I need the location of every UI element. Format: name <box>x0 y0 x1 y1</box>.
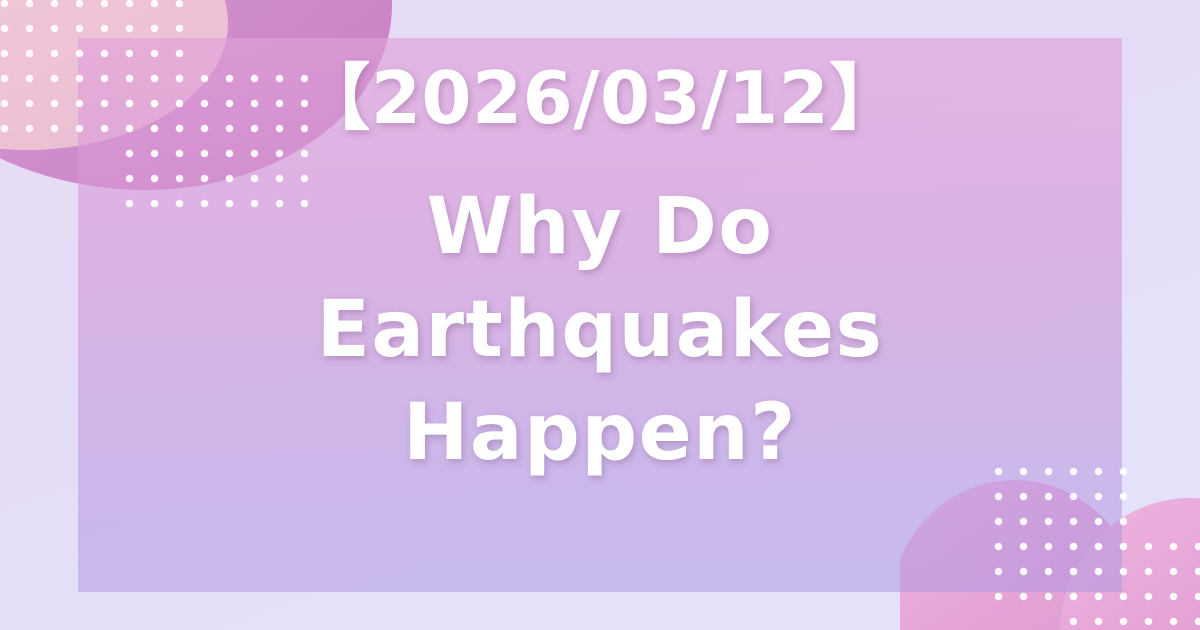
dot-grid-bottom-right-lower-icon <box>1061 534 1200 630</box>
dot-grid-top-left-lower-icon <box>117 66 308 210</box>
og-card-canvas: 【2026/03/12】 Why Do Earthquakes Happen? <box>0 0 1200 630</box>
